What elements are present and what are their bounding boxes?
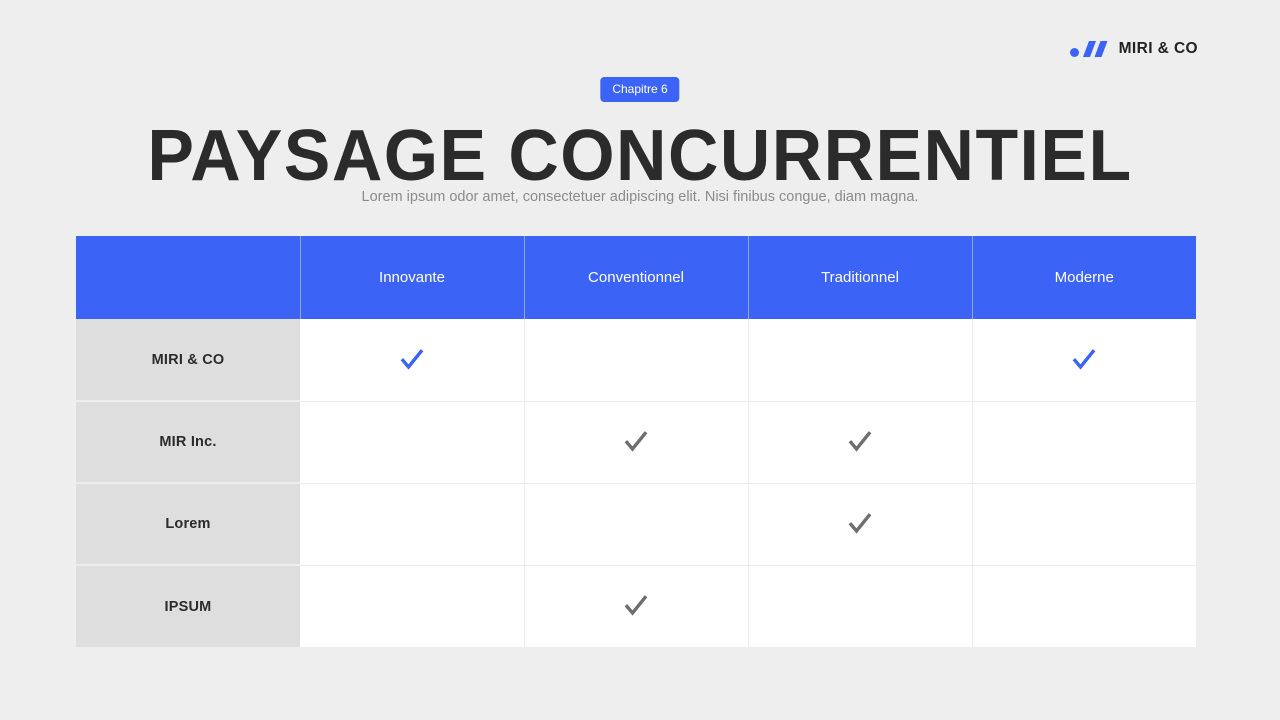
cell-miri-co-moderne — [972, 319, 1196, 401]
cell-lorem-conventionnel — [524, 483, 748, 565]
table-body: MIRI & CO — [76, 319, 1196, 647]
table-row: MIRI & CO — [76, 319, 1196, 401]
cell-ipsum-innovante — [300, 565, 524, 647]
column-header-innovante: Innovante — [300, 236, 524, 319]
cell-lorem-moderne — [972, 483, 1196, 565]
brand-name: MIRI & CO — [1119, 40, 1198, 58]
cell-lorem-traditionnel — [748, 483, 972, 565]
chapter-badge: Chapitre 6 — [600, 77, 679, 102]
cell-miri-co-innovante — [300, 319, 524, 401]
row-label-lorem: Lorem — [76, 483, 300, 565]
table-row: IPSUM — [76, 565, 1196, 647]
column-header-moderne: Moderne — [972, 236, 1196, 319]
cell-miri-co-conventionnel — [524, 319, 748, 401]
check-icon — [847, 429, 873, 455]
cell-mir-inc-conventionnel — [524, 401, 748, 483]
cell-ipsum-conventionnel — [524, 565, 748, 647]
cell-mir-inc-innovante — [300, 401, 524, 483]
cell-mir-inc-traditionnel — [748, 401, 972, 483]
check-icon — [623, 593, 649, 619]
column-header-conventionnel: Conventionnel — [524, 236, 748, 319]
row-label-miri-co: MIRI & CO — [76, 319, 300, 401]
check-icon — [847, 511, 873, 537]
cell-ipsum-traditionnel — [748, 565, 972, 647]
page-title: PAYSAGE CONCURRENTIEL — [19, 120, 1261, 192]
cell-lorem-innovante — [300, 483, 524, 565]
table-corner-cell — [76, 236, 300, 319]
table-header-row: Innovante Conventionnel Traditionnel Mod… — [76, 236, 1196, 319]
check-icon — [623, 429, 649, 455]
table-header: Innovante Conventionnel Traditionnel Mod… — [76, 236, 1196, 319]
cell-miri-co-traditionnel — [748, 319, 972, 401]
check-icon — [399, 347, 425, 373]
cell-mir-inc-moderne — [972, 401, 1196, 483]
table-row: MIR Inc. — [76, 401, 1196, 483]
table-row: Lorem — [76, 483, 1196, 565]
cell-ipsum-moderne — [972, 565, 1196, 647]
competitive-landscape-table: Innovante Conventionnel Traditionnel Mod… — [76, 236, 1196, 647]
page-subtitle: Lorem ipsum odor amet, consectetuer adip… — [0, 187, 1280, 207]
miri-logo-mark-icon — [1070, 38, 1110, 60]
check-icon — [1071, 347, 1097, 373]
column-header-traditionnel: Traditionnel — [748, 236, 972, 319]
row-label-ipsum: IPSUM — [76, 565, 300, 647]
row-label-mir-inc: MIR Inc. — [76, 401, 300, 483]
brand-logo: MIRI & CO — [1070, 38, 1198, 60]
